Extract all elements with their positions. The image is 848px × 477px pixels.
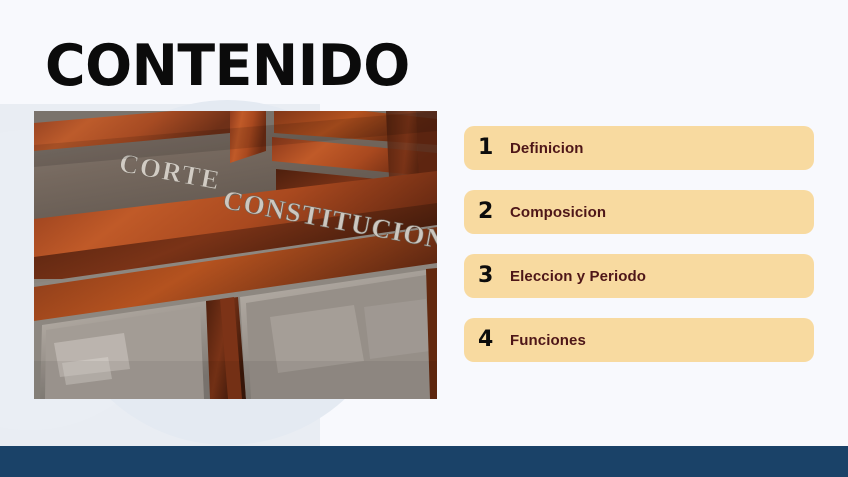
contents-item-number: 2	[478, 201, 500, 223]
contents-item-2[interactable]: 2 Composicion	[464, 190, 814, 234]
contents-item-number: 3	[478, 265, 500, 287]
contents-item-label: Composicion	[510, 205, 606, 220]
contents-item-label: Definicion	[510, 141, 584, 156]
contents-item-number: 4	[478, 329, 500, 351]
slide-canvas: CONTENIDO	[0, 0, 848, 477]
contents-item-4[interactable]: 4 Funciones	[464, 318, 814, 362]
page-title: CONTENIDO	[45, 38, 410, 95]
corte-constitucional-photo: CORTE CONSTITUCIONAL CORTE CONSTITUCIONA…	[34, 111, 437, 399]
bottom-accent-bar	[0, 446, 848, 477]
contents-item-3[interactable]: 3 Eleccion y Periodo	[464, 254, 814, 298]
contents-list: 1 Definicion 2 Composicion 3 Eleccion y …	[464, 126, 814, 362]
contents-item-label: Eleccion y Periodo	[510, 269, 646, 284]
contents-item-1[interactable]: 1 Definicion	[464, 126, 814, 170]
contents-item-number: 1	[478, 137, 500, 159]
photo-illustration: CORTE CONSTITUCIONAL	[34, 111, 437, 399]
contents-item-label: Funciones	[510, 333, 586, 348]
